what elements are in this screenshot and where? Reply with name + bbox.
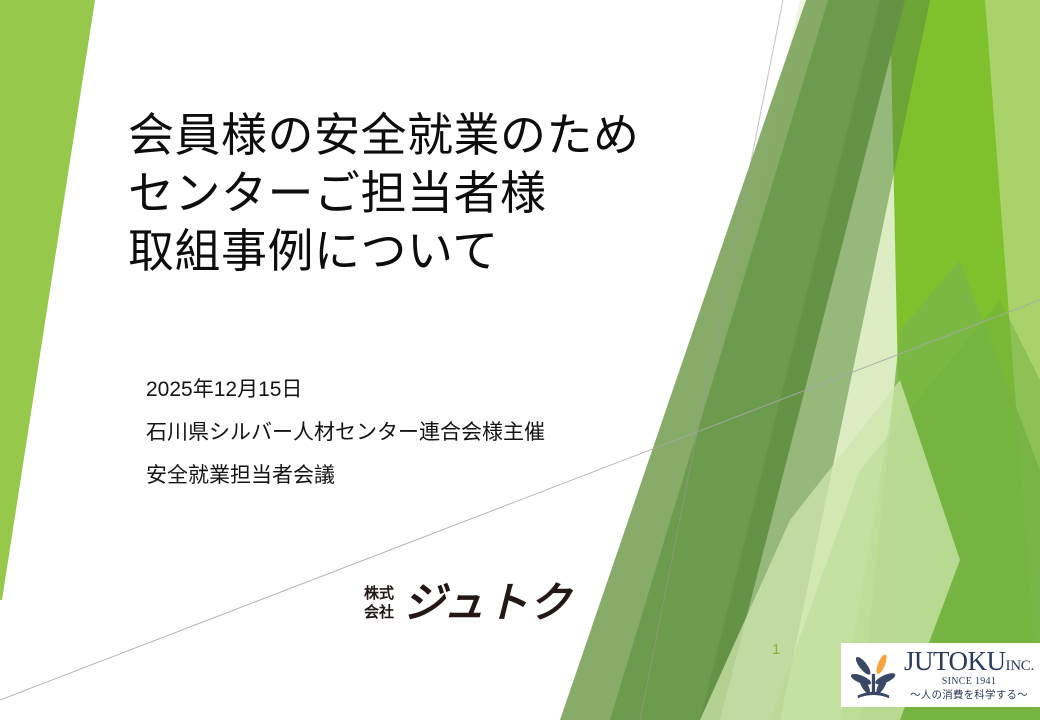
corporate-suffix: INC.: [1006, 659, 1034, 674]
subtitle-date: 2025年12月15日: [146, 368, 766, 411]
corporate-name-row: JUTOKU INC.: [904, 648, 1034, 675]
subtitle: 2025年12月15日 石川県シルバー人材センター連合会様主催 安全就業担当者会…: [146, 368, 766, 497]
hairline-diagonal-lower: [0, 300, 1040, 700]
subtitle-event: 安全就業担当者会議: [146, 454, 766, 497]
corporate-logo-badge: JUTOKU INC. SINCE 1941 〜人の消費を科学する〜: [841, 643, 1040, 707]
company-prefix-line-2: 会社: [364, 603, 394, 622]
title-line-3: 取組事例について: [128, 222, 768, 280]
subtitle-organizer: 石川県シルバー人材センター連合会様主催: [146, 411, 766, 454]
company-prefix-line-1: 株式: [364, 584, 394, 603]
corporate-wordmark: JUTOKU INC. SINCE 1941 〜人の消費を科学する〜: [904, 648, 1034, 702]
title-line-2: センターご担当者様: [128, 164, 768, 222]
jutoku-wordmark-logo: 株式 会社 ジュトク: [364, 581, 572, 625]
slide-canvas: 会員様の安全就業のため センターご担当者様 取組事例について 2025年12月1…: [0, 0, 1040, 720]
corporate-tagline: 〜人の消費を科学する〜: [910, 689, 1028, 702]
company-brand-name: ジュトク: [403, 581, 572, 625]
page-title: 会員様の安全就業のため センターご担当者様 取組事例について: [128, 106, 768, 280]
title-line-1: 会員様の安全就業のため: [128, 106, 768, 164]
right-band-yellowgreen: [890, 0, 1040, 720]
right-band-light: [840, 0, 1040, 720]
corporate-since: SINCE 1941: [942, 676, 996, 688]
left-green-wedge: [0, 0, 95, 600]
corporate-name: JUTOKU: [904, 648, 1006, 675]
page-number: 1: [772, 641, 780, 658]
jutoku-butterfly-icon: [847, 648, 901, 702]
company-prefix: 株式 会社: [364, 584, 394, 622]
